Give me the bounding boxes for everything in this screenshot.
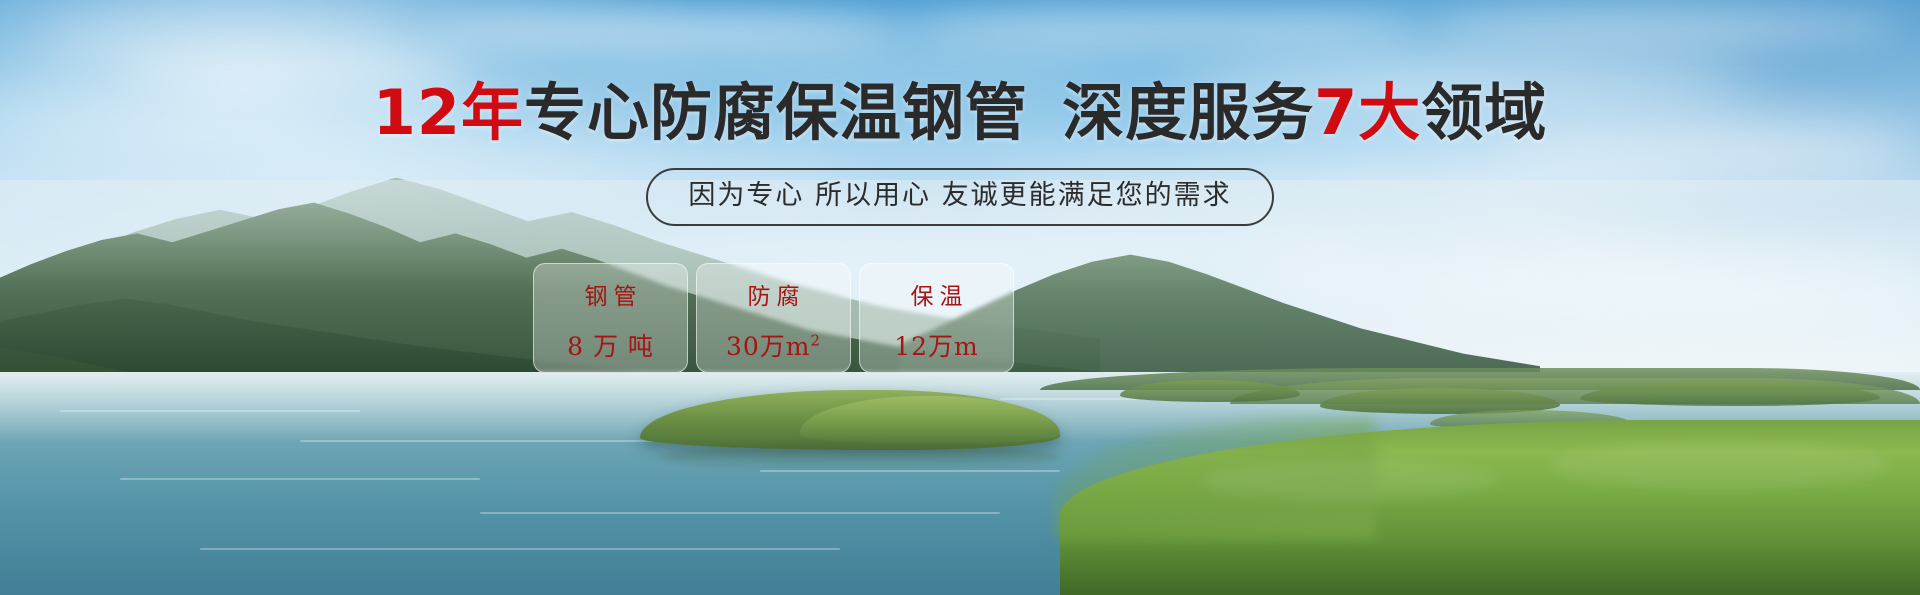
stat-card-label: 钢管 bbox=[579, 277, 643, 311]
banner-content: 12年专心防腐保温钢管深度服务7大领域 因为专心 所以用心 友诚更能满足您的需求… bbox=[0, 0, 1920, 595]
stat-card-value: 12万m bbox=[894, 327, 979, 363]
subtitle-pill: 因为专心 所以用心 友诚更能满足您的需求 bbox=[646, 168, 1273, 226]
stat-card-value: 8 万 吨 bbox=[567, 327, 654, 363]
stat-card-label: 防腐 bbox=[742, 277, 806, 311]
stat-card-value: 30万m2 bbox=[726, 327, 821, 363]
headline-product: 专心防腐保温钢管 bbox=[524, 76, 1028, 149]
stat-card-value-text: 8 万 吨 bbox=[567, 332, 654, 361]
headline-years: 12年 bbox=[373, 76, 524, 149]
stat-card-label: 保温 bbox=[905, 277, 969, 311]
hero-banner: 12年专心防腐保温钢管深度服务7大领域 因为专心 所以用心 友诚更能满足您的需求… bbox=[0, 0, 1920, 595]
stat-card-insulation[interactable]: 保温 12万m bbox=[859, 263, 1014, 373]
stat-card-list: 钢管 8 万 吨 防腐 30万m2 保温 12万m bbox=[533, 263, 1014, 373]
headline-fields-count: 7大 bbox=[1314, 76, 1421, 149]
stat-card-value-text: 12万m bbox=[894, 332, 979, 361]
stat-card-value-text: 30万m bbox=[726, 332, 811, 361]
headline: 12年专心防腐保温钢管深度服务7大领域 bbox=[0, 82, 1920, 144]
stat-card-anticorrosion[interactable]: 防腐 30万m2 bbox=[696, 263, 851, 373]
headline-fields: 领域 bbox=[1421, 76, 1547, 149]
headline-service: 深度服务 bbox=[1062, 76, 1314, 149]
stat-card-value-exponent: 2 bbox=[810, 332, 821, 350]
subtitle-container: 因为专心 所以用心 友诚更能满足您的需求 bbox=[0, 168, 1920, 226]
stat-card-steel-pipe[interactable]: 钢管 8 万 吨 bbox=[533, 263, 688, 373]
